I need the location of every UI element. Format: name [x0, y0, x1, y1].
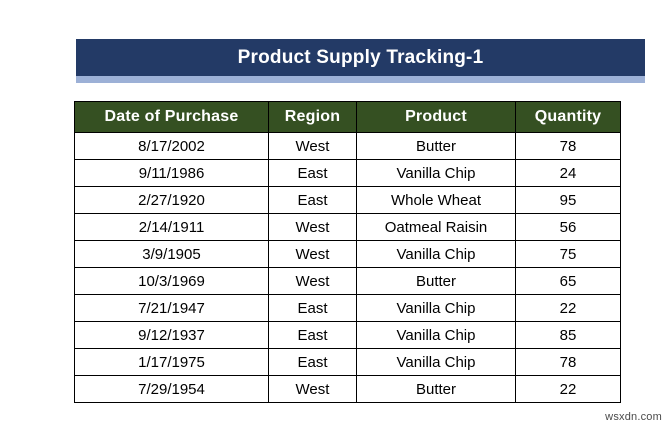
cell-quantity[interactable]: 22	[516, 295, 621, 322]
column-header-date[interactable]: Date of Purchase	[75, 102, 269, 133]
cell-product[interactable]: Whole Wheat	[357, 187, 516, 214]
cell-date[interactable]: 1/17/1975	[75, 349, 269, 376]
table-body: 8/17/2002WestButter789/11/1986EastVanill…	[75, 133, 621, 403]
cell-region[interactable]: West	[269, 268, 357, 295]
cell-quantity[interactable]: 24	[516, 160, 621, 187]
column-header-quantity[interactable]: Quantity	[516, 102, 621, 133]
cell-product[interactable]: Vanilla Chip	[357, 322, 516, 349]
table-row[interactable]: 9/11/1986EastVanilla Chip24	[75, 160, 621, 187]
cell-quantity[interactable]: 22	[516, 376, 621, 403]
cell-product[interactable]: Butter	[357, 268, 516, 295]
cell-region[interactable]: East	[269, 187, 357, 214]
cell-quantity[interactable]: 95	[516, 187, 621, 214]
table-row[interactable]: 9/12/1937EastVanilla Chip85	[75, 322, 621, 349]
cell-region[interactable]: East	[269, 160, 357, 187]
table-header: Date of Purchase Region Product Quantity	[75, 102, 621, 133]
cell-quantity[interactable]: 85	[516, 322, 621, 349]
cell-quantity[interactable]: 56	[516, 214, 621, 241]
title-accent-bar	[76, 76, 645, 83]
cell-product[interactable]: Vanilla Chip	[357, 349, 516, 376]
cell-date[interactable]: 8/17/2002	[75, 133, 269, 160]
cell-quantity[interactable]: 65	[516, 268, 621, 295]
cell-product[interactable]: Butter	[357, 133, 516, 160]
cell-quantity[interactable]: 78	[516, 133, 621, 160]
cell-product[interactable]: Oatmeal Raisin	[357, 214, 516, 241]
cell-product[interactable]: Butter	[357, 376, 516, 403]
cell-date[interactable]: 10/3/1969	[75, 268, 269, 295]
column-header-product[interactable]: Product	[357, 102, 516, 133]
product-supply-table: Date of Purchase Region Product Quantity…	[74, 101, 621, 403]
table-row[interactable]: 7/21/1947EastVanilla Chip22	[75, 295, 621, 322]
cell-date[interactable]: 3/9/1905	[75, 241, 269, 268]
page-title: Product Supply Tracking-1	[238, 48, 484, 67]
cell-product[interactable]: Vanilla Chip	[357, 160, 516, 187]
cell-quantity[interactable]: 75	[516, 241, 621, 268]
cell-date[interactable]: 9/12/1937	[75, 322, 269, 349]
watermark: wsxdn.com	[605, 411, 662, 423]
cell-region[interactable]: West	[269, 133, 357, 160]
cell-date[interactable]: 7/29/1954	[75, 376, 269, 403]
data-table-container: Date of Purchase Region Product Quantity…	[74, 101, 620, 403]
cell-region[interactable]: West	[269, 241, 357, 268]
table-row[interactable]: 1/17/1975EastVanilla Chip78	[75, 349, 621, 376]
table-row[interactable]: 7/29/1954WestButter22	[75, 376, 621, 403]
cell-date[interactable]: 9/11/1986	[75, 160, 269, 187]
cell-date[interactable]: 2/27/1920	[75, 187, 269, 214]
cell-date[interactable]: 2/14/1911	[75, 214, 269, 241]
title-banner: Product Supply Tracking-1	[76, 39, 645, 76]
cell-region[interactable]: East	[269, 322, 357, 349]
cell-region[interactable]: West	[269, 376, 357, 403]
cell-quantity[interactable]: 78	[516, 349, 621, 376]
cell-product[interactable]: Vanilla Chip	[357, 241, 516, 268]
cell-date[interactable]: 7/21/1947	[75, 295, 269, 322]
table-row[interactable]: 2/27/1920EastWhole Wheat95	[75, 187, 621, 214]
table-row[interactable]: 2/14/1911WestOatmeal Raisin56	[75, 214, 621, 241]
table-row[interactable]: 8/17/2002WestButter78	[75, 133, 621, 160]
cell-product[interactable]: Vanilla Chip	[357, 295, 516, 322]
cell-region[interactable]: East	[269, 295, 357, 322]
table-row[interactable]: 3/9/1905WestVanilla Chip75	[75, 241, 621, 268]
table-header-row: Date of Purchase Region Product Quantity	[75, 102, 621, 133]
cell-region[interactable]: West	[269, 214, 357, 241]
column-header-region[interactable]: Region	[269, 102, 357, 133]
cell-region[interactable]: East	[269, 349, 357, 376]
table-row[interactable]: 10/3/1969WestButter65	[75, 268, 621, 295]
